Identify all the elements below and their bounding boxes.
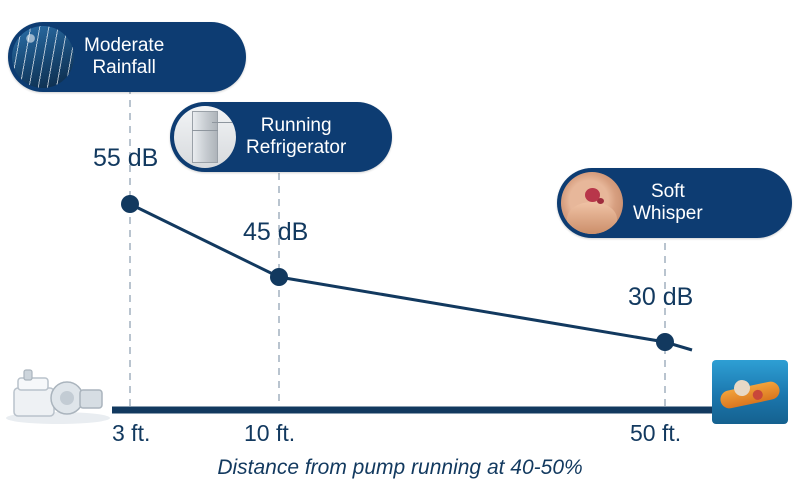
annotation-pill-soft-whisper[interactable]: Soft Whisper: [557, 168, 792, 238]
x-axis-caption: Distance from pump running at 40-50%: [0, 456, 800, 480]
data-point-10ft[interactable]: [270, 268, 288, 286]
whisper-thumbnail-icon: [561, 172, 623, 234]
annotation-pill-label: Soft Whisper: [623, 181, 713, 225]
annotation-pill-running-refrigerator[interactable]: Running Refrigerator: [170, 102, 392, 172]
refrigerator-thumbnail-icon: [174, 106, 236, 168]
noise-comparison-infographic: Moderate Rainfall Running Refrigerator S…: [0, 0, 800, 500]
pool-float-photo: [712, 360, 788, 424]
data-point-50ft[interactable]: [656, 333, 674, 351]
x-tick-label-50ft: 50 ft.: [630, 420, 681, 447]
data-label-55db: 55 dB: [93, 144, 158, 173]
x-tick-label-3ft: 3 ft.: [112, 420, 150, 447]
annotation-pill-label: Running Refrigerator: [236, 115, 356, 159]
data-label-30db: 30 dB: [628, 283, 693, 312]
data-label-45db: 45 dB: [243, 218, 308, 247]
annotation-pill-moderate-rainfall[interactable]: Moderate Rainfall: [8, 22, 246, 92]
annotation-pill-label: Moderate Rainfall: [74, 35, 174, 79]
x-tick-label-10ft: 10 ft.: [244, 420, 295, 447]
data-point-3ft[interactable]: [121, 195, 139, 213]
rainfall-thumbnail-icon: [12, 26, 74, 88]
pool-pump-photo: [4, 366, 112, 424]
